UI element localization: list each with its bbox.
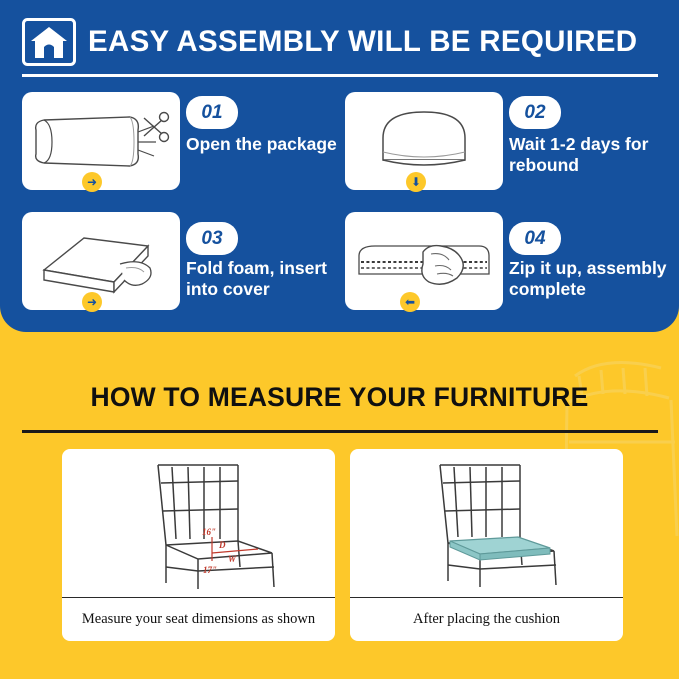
measure-card-left-caption: Measure your seat dimensions as shown: [62, 599, 335, 641]
folding-foam-into-cover-illustration: [22, 212, 180, 310]
assembly-title: EASY ASSEMBLY WILL BE REQUIRED: [88, 25, 637, 59]
page-root: EASY ASSEMBLY WILL BE REQUIRED: [0, 0, 679, 679]
step-04-text: Zip it up, assembly complete: [509, 258, 679, 301]
measure-section: HOW TO MEASURE YOUR FURNITURE: [0, 332, 679, 679]
step-03-text: Fold foam, insert into cover: [186, 258, 356, 301]
card-divider: [62, 597, 335, 598]
measure-divider: [22, 430, 658, 433]
measure-card-right-caption: After placing the cushion: [350, 599, 623, 641]
measure-card-left: 16" D W 17" Measure your seat dimensions…: [62, 449, 335, 641]
assembly-header: EASY ASSEMBLY WILL BE REQUIRED: [22, 14, 658, 70]
house-icon: [22, 18, 76, 66]
dimension-label-depth: 16": [202, 527, 216, 537]
hand-zipping-cushion-illustration: [345, 212, 503, 310]
arrow-down-icon: ⬇: [406, 172, 426, 192]
step-01-text: Open the package: [186, 134, 356, 155]
step-03-number: 03: [186, 222, 238, 255]
arrow-right-icon: ➜: [82, 172, 102, 192]
step-02-number: 02: [509, 96, 561, 129]
measure-title: HOW TO MEASURE YOUR FURNITURE: [0, 382, 679, 413]
chair-with-cushion-illustration: [350, 449, 623, 597]
card-divider: [350, 597, 623, 598]
dimension-label-d: D: [218, 540, 226, 550]
arrow-left-icon: ⬅: [400, 292, 420, 312]
assembly-section: EASY ASSEMBLY WILL BE REQUIRED: [0, 0, 679, 332]
dimension-label-width: 17": [203, 565, 217, 575]
header-divider: [22, 74, 658, 77]
step-01-image-card: [22, 92, 180, 190]
dimension-label-w: W: [228, 554, 237, 564]
step-02-text: Wait 1-2 days for rebound: [509, 134, 679, 177]
step-01-number: 01: [186, 96, 238, 129]
chair-with-dimension-labels-illustration: 16" D W 17": [62, 449, 335, 597]
arrow-right-icon: ➜: [82, 292, 102, 312]
measure-card-right: After placing the cushion: [350, 449, 623, 641]
step-03-image-card: [22, 212, 180, 310]
step-04-number: 04: [509, 222, 561, 255]
step-04-image-card: [345, 212, 503, 310]
rolled-package-with-scissors-illustration: [22, 92, 180, 190]
